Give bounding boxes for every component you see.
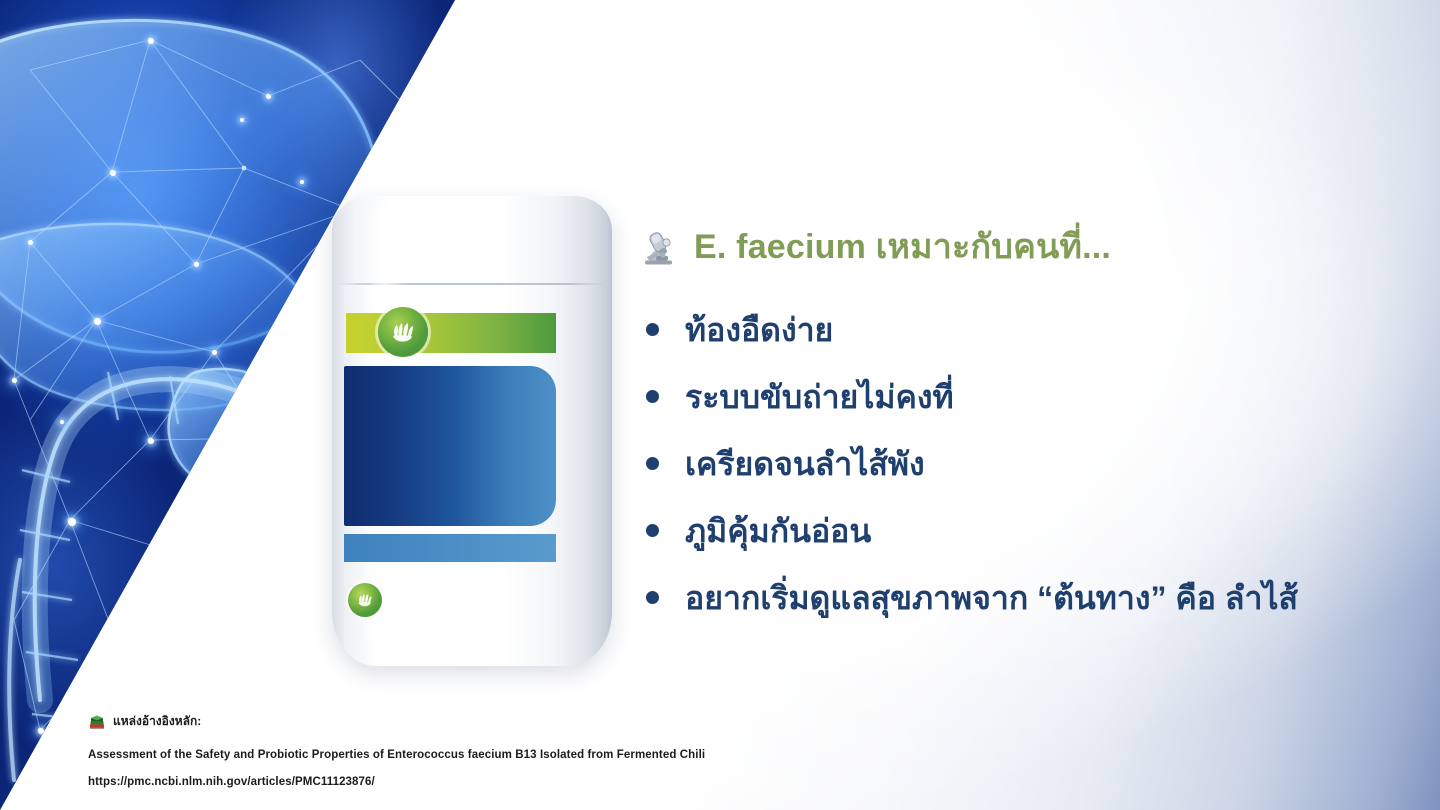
list-item-label: อยากเริ่มดูแลสุขภาพจาก “ต้นทาง” คือ ลำไส… xyxy=(685,578,1298,618)
leaf-hand-logo-icon xyxy=(378,307,428,357)
glow-node xyxy=(300,180,304,184)
list-item: เครียดจนลำไส้พัง xyxy=(636,430,1376,497)
glow-node xyxy=(28,240,33,245)
list-item: ระบบขับถ่ายไม่คงที่ xyxy=(636,363,1376,430)
leaf-hand-glyph xyxy=(386,315,420,349)
section-heading: E. faecium เหมาะกับคนที่... xyxy=(636,226,1376,270)
heading-label: E. faecium เหมาะกับคนที่... xyxy=(694,229,1111,266)
label-blue-panel xyxy=(344,366,556,526)
list-item: อยากเริ่มดูแลสุขภาพจาก “ต้นทาง” คือ ลำไส… xyxy=(636,564,1376,631)
glow-node xyxy=(240,118,244,122)
leaf-hand-badge-icon xyxy=(348,583,382,617)
microscope-icon xyxy=(636,226,680,270)
glow-node xyxy=(38,728,44,734)
bullet-dot-icon xyxy=(646,591,659,604)
reference-heading-label: แหล่งอ้างอิงหลัก: xyxy=(113,712,201,731)
bullet-dot-icon xyxy=(646,390,659,403)
bullet-dot-icon xyxy=(646,323,659,336)
list-item-label: ภูมิคุ้มกันอ่อน xyxy=(685,511,871,551)
glow-node xyxy=(60,420,64,424)
reference-footer: แหล่งอ้างอิงหลัก: Assessment of the Safe… xyxy=(88,712,848,788)
content-column: E. faecium เหมาะกับคนที่... ท้องอืดง่าย … xyxy=(636,226,1376,631)
list-item-label: ระบบขับถ่ายไม่คงที่ xyxy=(685,377,954,417)
list-item-label: เครียดจนลำไส้พัง xyxy=(685,444,925,484)
label-blue-strip xyxy=(344,534,556,562)
glow-node xyxy=(110,170,116,176)
glow-node xyxy=(266,94,271,99)
bullet-dot-icon xyxy=(646,524,659,537)
reference-heading: แหล่งอ้างอิงหลัก: xyxy=(88,712,848,731)
glow-node xyxy=(94,318,101,325)
list-item: ภูมิคุ้มกันอ่อน xyxy=(636,497,1376,564)
leaf-hand-badge-glyph xyxy=(354,589,376,611)
reference-url: https://pmc.ncbi.nlm.nih.gov/articles/PM… xyxy=(88,776,848,788)
glow-node xyxy=(194,262,199,267)
glow-node xyxy=(148,438,154,444)
reference-title: Assessment of the Safety and Probiotic P… xyxy=(88,749,848,761)
list-item-label: ท้องอืดง่าย xyxy=(685,310,833,350)
books-icon xyxy=(88,713,106,731)
glow-node xyxy=(68,518,76,526)
slide-canvas: E. faecium เหมาะกับคนที่... ท้องอืดง่าย … xyxy=(0,0,1440,810)
list-item: ท้องอืดง่าย xyxy=(636,296,1376,363)
glow-node xyxy=(148,38,154,44)
glow-node xyxy=(12,378,17,383)
glow-node xyxy=(212,350,217,355)
product-bottle xyxy=(332,196,612,682)
benefit-list: ท้องอืดง่าย ระบบขับถ่ายไม่คงที่ เครียดจน… xyxy=(636,296,1376,631)
bullet-dot-icon xyxy=(646,457,659,470)
